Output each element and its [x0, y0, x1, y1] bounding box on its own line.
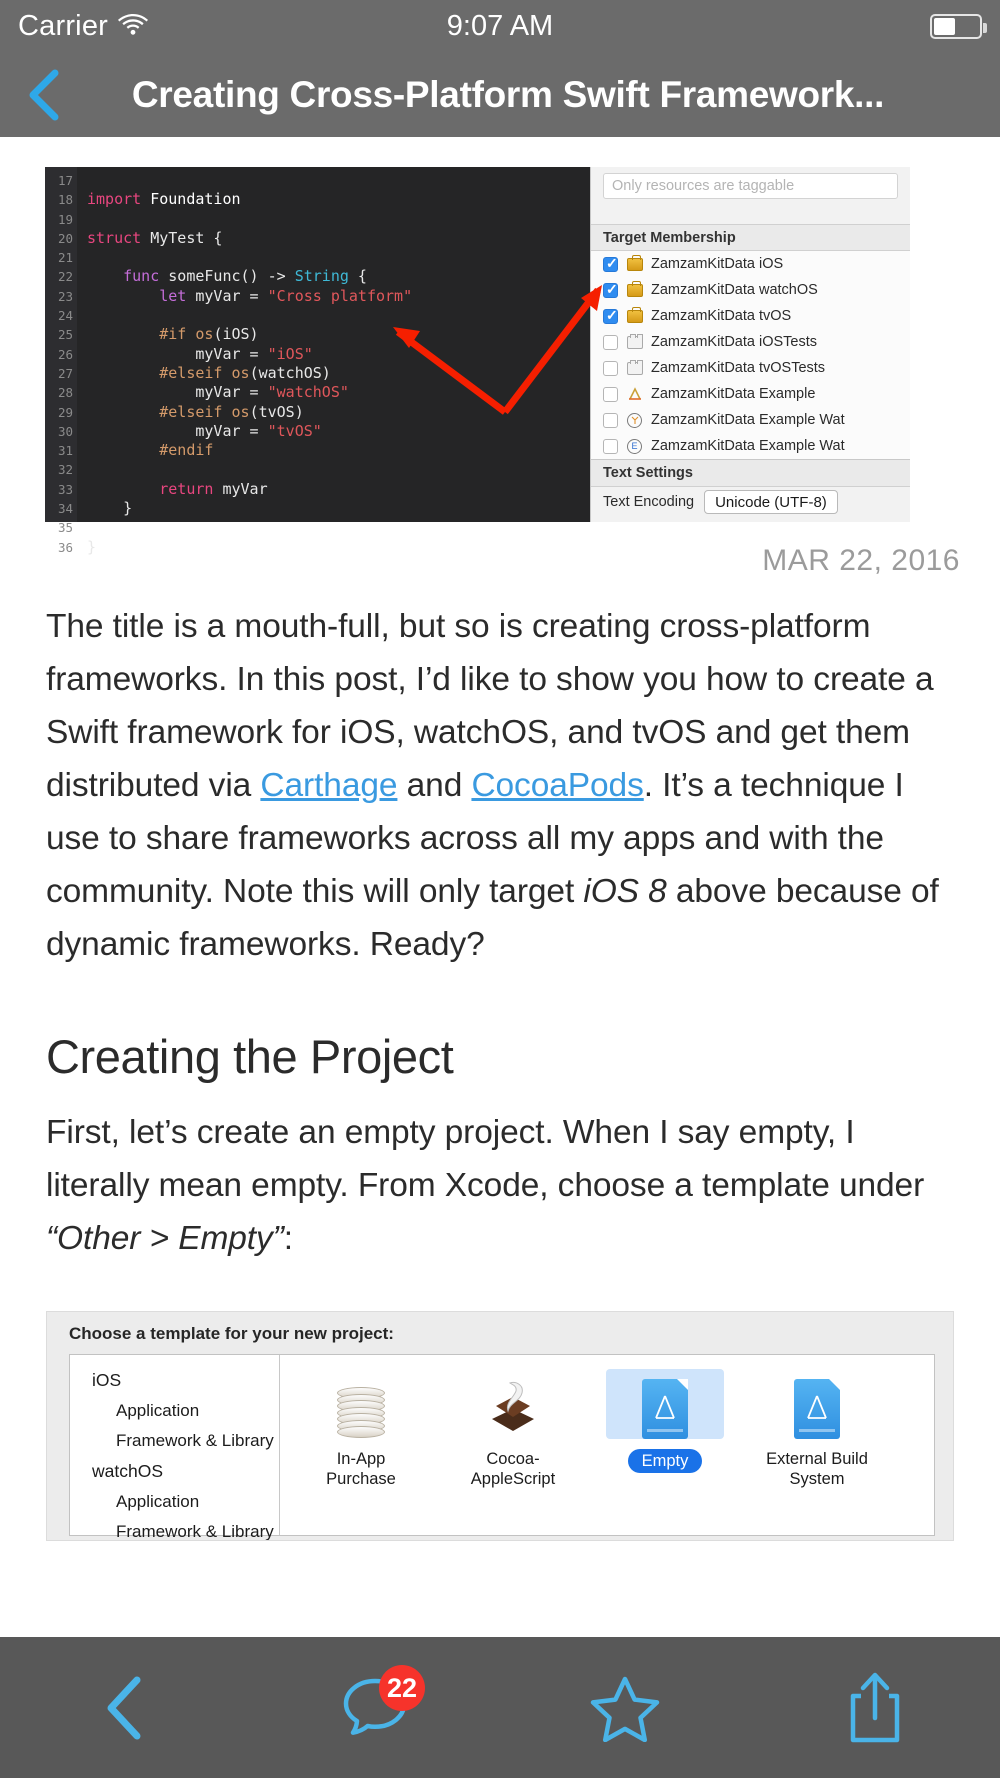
- line-number-gutter: 1718192021222324252627282930313233343536: [45, 167, 77, 522]
- line-number: 25: [45, 325, 73, 344]
- coins-icon: [302, 1369, 420, 1439]
- line-number: 31: [45, 441, 73, 460]
- target-label: ZamzamKitData tvOS: [651, 308, 791, 324]
- source-code: import Foundation struct MyTest { func s…: [77, 167, 590, 522]
- template-category-item[interactable]: watchOS: [70, 1456, 279, 1487]
- code-screenshot-image: 1718192021222324252627282930313233343536…: [45, 167, 960, 522]
- code-line: #if os(iOS): [87, 325, 590, 344]
- target-label: ZamzamKitData tvOSTests: [651, 360, 825, 376]
- line-number: 27: [45, 364, 73, 383]
- battery-fill: [934, 18, 955, 35]
- target-label: ZamzamKitData Example: [651, 386, 815, 402]
- line-number: 17: [45, 171, 73, 190]
- test-bundle-icon: [626, 335, 643, 350]
- status-bar-time: 9:07 AM: [0, 10, 1000, 43]
- template-category-item[interactable]: Application: [70, 1487, 279, 1517]
- template-label: External Build System: [758, 1449, 876, 1489]
- text-settings-header: Text Settings: [591, 459, 910, 487]
- target-label: ZamzamKitData Example Wat: [651, 412, 845, 428]
- template-category-sidebar[interactable]: iOSApplicationFramework & LibrarywatchOS…: [70, 1355, 280, 1535]
- code-line: myVar = "iOS": [87, 345, 590, 364]
- line-number: 28: [45, 383, 73, 402]
- code-line: }: [87, 499, 590, 518]
- target-membership-row[interactable]: ZamzamKitData Example: [591, 381, 910, 407]
- comment-count-badge: 22: [379, 1665, 425, 1711]
- p1-text-b: and: [397, 767, 471, 804]
- code-line: struct MyTest {: [87, 229, 590, 248]
- xcode-doc-icon: [758, 1369, 876, 1439]
- article-scroll-view[interactable]: 1718192021222324252627282930313233343536…: [0, 137, 1000, 1637]
- text-encoding-row: Text Encoding Unicode (UTF-8): [591, 487, 910, 517]
- xcode-app-icon: [626, 387, 643, 402]
- template-category-item[interactable]: Framework & Library: [70, 1426, 279, 1456]
- target-label: ZamzamKitData watchOS: [651, 282, 818, 298]
- xcode-doc-icon: [606, 1369, 724, 1439]
- comments-button[interactable]: 22: [250, 1637, 500, 1778]
- code-line: #endif: [87, 441, 590, 460]
- code-line: [87, 210, 590, 229]
- p2-emphasis-other-empty: “Other > Empty”: [46, 1220, 284, 1257]
- template-chooser-body: iOSApplicationFramework & LibrarywatchOS…: [69, 1354, 935, 1536]
- line-number: 26: [45, 345, 73, 364]
- p1-emphasis-ios8: iOS 8: [583, 873, 666, 910]
- file-inspector-pane: Only resources are taggable Target Membe…: [590, 167, 910, 522]
- code-line: [87, 171, 590, 190]
- line-number: 21: [45, 248, 73, 267]
- target-membership-header: Target Membership: [591, 225, 910, 251]
- watch-icon: [626, 413, 643, 428]
- target-checkbox[interactable]: [603, 439, 618, 454]
- target-membership-row[interactable]: EZamzamKitData Example Wat: [591, 433, 910, 459]
- target-membership-row[interactable]: ZamzamKitData tvOSTests: [591, 355, 910, 381]
- favorite-button[interactable]: [500, 1637, 750, 1778]
- text-encoding-label: Text Encoding: [603, 494, 694, 510]
- template-item[interactable]: External Build System: [758, 1369, 876, 1535]
- line-number: 33: [45, 480, 73, 499]
- code-line: myVar = "watchOS": [87, 383, 590, 402]
- line-number: 23: [45, 287, 73, 306]
- template-item[interactable]: Empty: [606, 1369, 724, 1535]
- carthage-link[interactable]: Carthage: [260, 767, 397, 804]
- template-label: Cocoa-AppleScript: [454, 1449, 572, 1489]
- target-label: ZamzamKitData iOS: [651, 256, 783, 272]
- share-button[interactable]: [750, 1637, 1000, 1778]
- bottom-toolbar: 22: [0, 1637, 1000, 1778]
- line-number: 30: [45, 422, 73, 441]
- status-bar: Carrier 9:07 AM: [0, 0, 1000, 52]
- tags-row: Only resources are taggable: [591, 167, 910, 205]
- text-encoding-select[interactable]: Unicode (UTF-8): [704, 490, 838, 514]
- article-paragraph-2: First, let’s create an empty project. Wh…: [46, 1106, 954, 1265]
- star-icon: [589, 1674, 661, 1742]
- code-line: [87, 460, 590, 479]
- line-number: 35: [45, 518, 73, 537]
- code-editor-pane: 1718192021222324252627282930313233343536…: [45, 167, 590, 522]
- code-line: [87, 306, 590, 325]
- carrier-label: Carrier: [18, 10, 108, 43]
- line-number: 36: [45, 538, 73, 557]
- template-label: In-App Purchase: [302, 1449, 420, 1489]
- target-checkbox[interactable]: [603, 387, 618, 402]
- target-membership-row[interactable]: ZamzamKitData tvOS: [591, 303, 910, 329]
- code-line: func someFunc() -> String {: [87, 267, 590, 286]
- share-icon: [845, 1670, 905, 1746]
- test-bundle-icon: [626, 361, 643, 376]
- line-number: 18: [45, 190, 73, 209]
- target-checkbox[interactable]: [603, 283, 618, 298]
- template-item[interactable]: Cocoa-AppleScript: [454, 1369, 572, 1535]
- code-line: let myVar = "Cross platform": [87, 287, 590, 306]
- extension-icon: E: [626, 439, 643, 454]
- tags-field[interactable]: Only resources are taggable: [603, 173, 898, 199]
- line-number: 24: [45, 306, 73, 325]
- line-number: 22: [45, 267, 73, 286]
- code-line: return myVar: [87, 480, 590, 499]
- line-number: 34: [45, 499, 73, 518]
- line-number: 32: [45, 460, 73, 479]
- line-number: 19: [45, 210, 73, 229]
- template-label: Empty: [628, 1449, 703, 1473]
- target-membership-row[interactable]: ZamzamKitData iOSTests: [591, 329, 910, 355]
- template-item[interactable]: In-App Purchase: [302, 1369, 420, 1535]
- line-number: 29: [45, 403, 73, 422]
- applescript-icon: [454, 1369, 572, 1439]
- p2-text-a: First, let’s create an empty project. Wh…: [46, 1114, 924, 1204]
- template-category-item[interactable]: iOS: [70, 1365, 279, 1396]
- target-membership-row[interactable]: ZamzamKitData Example Wat: [591, 407, 910, 433]
- line-number: 20: [45, 229, 73, 248]
- cocoapods-link[interactable]: CocoaPods: [471, 767, 643, 804]
- code-line: #elseif os(watchOS): [87, 364, 590, 383]
- target-checkbox[interactable]: [603, 309, 618, 324]
- code-line: #elseif os(tvOS): [87, 403, 590, 422]
- battery-icon: [930, 14, 982, 39]
- chevron-left-icon: [99, 1672, 151, 1744]
- target-label: ZamzamKitData iOSTests: [651, 334, 817, 350]
- target-membership-row[interactable]: ZamzamKitData iOS: [591, 251, 910, 277]
- app-screen: Carrier 9:07 AM Creating Cross-Platform …: [0, 0, 1000, 1778]
- template-chooser-screenshot: Choose a template for your new project: …: [46, 1311, 954, 1541]
- template-category-item[interactable]: Framework & Library: [70, 1517, 279, 1541]
- briefcase-icon: [626, 283, 643, 298]
- code-line: import Foundation: [87, 190, 590, 209]
- code-line: [87, 518, 590, 537]
- page-title: Creating Cross-Platform Swift Framework.…: [68, 74, 978, 116]
- navigation-bar: Creating Cross-Platform Swift Framework.…: [0, 52, 1000, 137]
- target-checkbox[interactable]: [603, 361, 618, 376]
- code-line: myVar = "tvOS": [87, 422, 590, 441]
- target-label: ZamzamKitData Example Wat: [651, 438, 845, 454]
- target-membership-list: ZamzamKitData iOSZamzamKitData watchOSZa…: [591, 251, 910, 459]
- template-grid[interactable]: In-App PurchaseCocoa-AppleScriptEmptyExt…: [280, 1355, 934, 1535]
- briefcase-icon: [626, 257, 643, 272]
- target-checkbox[interactable]: [603, 413, 618, 428]
- section-heading: Creating the Project: [46, 1029, 954, 1084]
- inspector-divider: [591, 205, 910, 225]
- status-bar-right: [930, 14, 982, 39]
- target-membership-row[interactable]: ZamzamKitData watchOS: [591, 277, 910, 303]
- target-checkbox[interactable]: [603, 257, 618, 272]
- code-line: [87, 248, 590, 267]
- wifi-icon: [118, 13, 148, 40]
- back-button[interactable]: [0, 1637, 250, 1778]
- p2-text-b: :: [284, 1220, 293, 1257]
- nav-back-button[interactable]: [22, 67, 68, 123]
- code-line: }: [87, 538, 590, 557]
- template-chooser-title: Choose a template for your new project:: [47, 1312, 953, 1354]
- article-paragraph-1: The title is a mouth-full, but so is cre…: [46, 600, 954, 971]
- target-checkbox[interactable]: [603, 335, 618, 350]
- status-bar-left: Carrier: [18, 10, 148, 43]
- template-category-item[interactable]: Application: [70, 1396, 279, 1426]
- briefcase-icon: [626, 309, 643, 324]
